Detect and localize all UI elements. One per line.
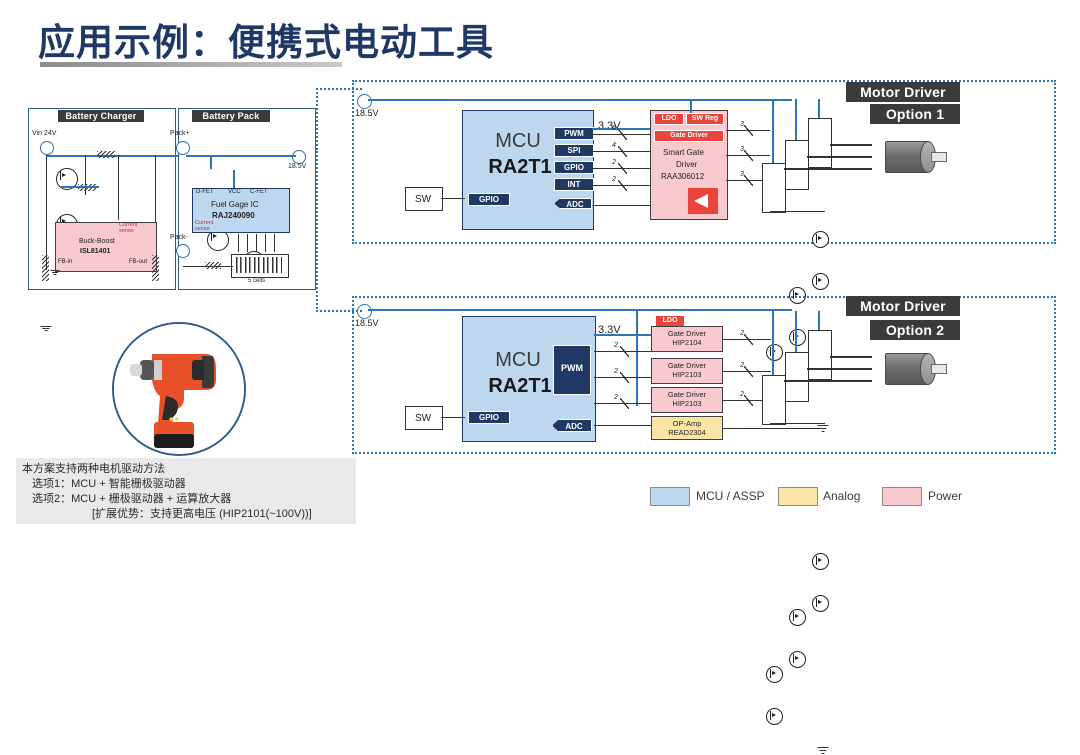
option2-gate-driver-1-name: Gate Driver <box>652 329 722 338</box>
page-title: 应用示例：便携式电动工具 <box>38 12 494 66</box>
fuel-gage-part: RAJ240090 <box>212 211 255 220</box>
option2-adc-wire <box>594 425 652 426</box>
pack-plus-terminal <box>176 141 190 155</box>
option2-mcu-label: MCU <box>478 350 558 370</box>
option1-bus-slash-2 <box>618 146 627 157</box>
sgd-opamp-triangle <box>694 194 708 208</box>
caption-line-4: [扩展优势：支持更高电压 (HIP2101(~100V))] <box>16 507 356 522</box>
option1-motor-wire-2 <box>807 156 872 158</box>
option1-bus-width-4: 2 <box>612 176 616 183</box>
cell-tap-arrows <box>238 234 282 252</box>
buck-boost-name: Buck-Boost <box>79 238 115 245</box>
option1-gnd-rail <box>770 211 825 212</box>
option2-out-slash-3 <box>744 395 753 406</box>
option2-gate-driver-3-name: Gate Driver <box>652 390 722 399</box>
option1-gpio-input-tag[interactable]: GPIO <box>468 193 510 206</box>
option2-opamp-block: OP-Amp READ2304 <box>651 416 723 440</box>
option1-signal-adc <box>592 205 650 206</box>
option1-bus-slash-4 <box>618 180 627 191</box>
option1-hv-bus-b <box>795 99 797 141</box>
option1-periph-adc[interactable]: ADC <box>554 198 592 209</box>
charger-vert-wire-3 <box>118 155 119 220</box>
option1-phase-width-2: 3 <box>740 146 744 153</box>
cell-bars <box>236 257 282 273</box>
option1-fetpair-b <box>785 140 809 190</box>
option2-option-header: Option 2 <box>870 320 960 340</box>
option2-opamp-feedback-wire <box>723 428 823 429</box>
vin-label: Vin 24V <box>32 130 56 137</box>
cells-label: 5 cells <box>248 278 265 284</box>
caption-line-2: 选项1：MCU + 智能栅极驱动器 <box>16 477 356 492</box>
caption-line-3: 选项2：MCU + 栅极驱动器 + 运算放大器 <box>16 492 356 507</box>
option1-fet-c-high <box>812 231 829 248</box>
option2-motor-wire-1 <box>830 356 872 358</box>
option1-periph-gpio[interactable]: GPIO <box>554 161 594 174</box>
option2-sw-wire <box>441 417 465 418</box>
charger-ground-left <box>40 326 52 332</box>
pack-to-option2-connector <box>316 148 362 312</box>
option2-fetpair-b <box>785 352 809 402</box>
pack-rail-down <box>210 155 212 169</box>
option1-periph-int[interactable]: INT <box>554 178 594 191</box>
option1-sw-label: SW <box>415 194 431 205</box>
option1-hv-bus-a <box>772 99 774 165</box>
option1-motor-driver-header: Motor Driver <box>846 82 960 102</box>
option2-bus-slash-1 <box>620 346 629 357</box>
buck-boost-part: ISL81401 <box>80 248 110 255</box>
option2-motor-wire-2 <box>807 368 872 370</box>
option2-bus-slash-3 <box>620 398 629 409</box>
option1-phase-slash-3 <box>744 175 753 186</box>
option1-motor-wire-1 <box>830 144 872 146</box>
charger-rail-wire <box>46 155 196 157</box>
option1-bus-slash-3 <box>618 163 627 174</box>
option2-motor-driver-header: Motor Driver <box>846 296 960 316</box>
option1-bus-width-3: 2 <box>612 159 616 166</box>
option2-out-width-3: 2 <box>740 391 744 398</box>
pack-plus-label: Pack+ <box>170 130 190 137</box>
option2-fetpair-a <box>762 375 786 425</box>
option2-gate-driver-2: Gate Driver HIP2103 <box>651 358 723 384</box>
battery-charger-header: Battery Charger <box>58 110 144 122</box>
charger-series-resistor <box>97 151 115 158</box>
option2-ground <box>817 747 829 755</box>
legend-chip-analog <box>778 487 818 506</box>
power-drill-photo <box>112 322 246 456</box>
option2-bus-width-2: 2 <box>614 368 618 375</box>
option2-out-slash-1 <box>744 334 753 345</box>
option2-sw-label: SW <box>415 413 431 424</box>
option2-gnd-rail <box>770 423 825 424</box>
vin-terminal <box>40 141 54 155</box>
option2-gate-driver-2-name: Gate Driver <box>652 361 722 370</box>
option2-3v3-down <box>636 311 638 406</box>
option2-fet-c-low <box>812 595 829 612</box>
option1-bus-slash-1 <box>618 129 627 140</box>
buck-boost-fb-in: FB-in <box>58 259 72 265</box>
pack-18v-label: 18.5V <box>288 163 306 170</box>
pack-minus-terminal <box>176 244 190 258</box>
legend-label-mcu: MCU / ASSP <box>696 489 765 503</box>
legend-label-analog: Analog <box>823 489 860 503</box>
option2-gate-driver-3-part: HIP2103 <box>652 399 722 408</box>
option2-out-slash-2 <box>744 366 753 377</box>
option2-3v3-rail <box>594 334 654 336</box>
charger-switch-node <box>61 186 99 188</box>
drill-illustration <box>114 324 244 454</box>
option1-main-rail <box>368 99 792 101</box>
option2-out-width-2: 2 <box>740 362 744 369</box>
buck-boost-current-sense: Currentsense <box>119 222 137 234</box>
sgd-name-line2: Driver <box>676 160 697 169</box>
sgd-part: RAA306012 <box>661 172 704 181</box>
option2-gpio-input-tag[interactable]: GPIO <box>468 411 510 424</box>
legend-chip-power <box>882 487 922 506</box>
option1-bus-width-2: 4 <box>612 142 616 149</box>
charger-ground-fet <box>50 270 60 275</box>
pack-minus-label: Pack- <box>170 234 188 241</box>
pack-rail-wire <box>186 155 296 157</box>
option1-fetpair-a <box>762 163 786 213</box>
option1-rail-to-driver <box>690 99 692 113</box>
option2-opamp-part: READ2304 <box>652 428 722 437</box>
option2-hv-bus-b <box>795 311 797 353</box>
option2-hv-bus-c <box>818 311 820 331</box>
legend-chip-mcu <box>650 487 690 506</box>
caption-box: 本方案支持两种电机驱动方法 选项1：MCU + 智能栅极驱动器 选项2：MCU … <box>16 458 356 524</box>
option1-phase-width-1: 3 <box>740 121 744 128</box>
option2-fet-a-high <box>766 666 783 683</box>
option2-gate-driver-1: Gate Driver HIP2104 <box>651 326 723 352</box>
fuel-gage-dfet-pin: D-FET <box>196 189 214 195</box>
option1-fet-c-low <box>812 273 829 290</box>
pack-fet-mid <box>233 170 235 190</box>
option1-periph-spi[interactable]: SPI <box>554 144 594 157</box>
fuel-gage-vcc-pin: VCC <box>228 189 241 195</box>
sgd-name-line1: Smart Gate <box>663 148 704 157</box>
option1-bus-width-1: 6 <box>612 125 616 132</box>
option2-gate-driver-3: Gate Driver HIP2103 <box>651 387 723 413</box>
option2-fet-c-high <box>812 553 829 570</box>
option2-out-width-1: 2 <box>740 330 744 337</box>
fuel-gage-cfet-pin: C-FET <box>250 189 268 195</box>
option1-hv-bus-c <box>818 99 820 119</box>
fuel-gage-current-sense: Currentsense <box>195 220 213 232</box>
option2-pwm-label: PWM <box>556 363 588 373</box>
title-underline <box>40 62 342 67</box>
fuel-gage-name: Fuel Gage IC <box>211 200 259 209</box>
option2-bus-width-3: 2 <box>614 394 618 401</box>
option1-motor-wire-3 <box>784 168 872 170</box>
option1-option-header: Option 1 <box>870 104 960 124</box>
option2-opamp-name: OP-Amp <box>652 419 722 428</box>
option2-adc-tag[interactable]: ADC <box>552 419 592 432</box>
option2-motor-shaft <box>931 364 947 374</box>
option1-phase-width-3: 3 <box>740 171 744 178</box>
option2-hv-bus-a <box>772 311 774 377</box>
sgd-swreg-tag: SW Reg <box>686 113 724 125</box>
option1-fetpair-c <box>808 118 832 168</box>
option1-phase-slash-1 <box>744 125 753 136</box>
option1-periph-pwm[interactable]: PWM <box>554 127 594 140</box>
option2-fetpair-c <box>808 330 832 380</box>
charger-fb-in-divider <box>42 255 49 281</box>
buck-boost-fb-out: FB-out <box>129 259 147 265</box>
battery-pack-header: Battery Pack <box>192 110 270 122</box>
option2-fet-b-high <box>789 609 806 626</box>
option2-motor-wire-3 <box>784 380 872 382</box>
option2-gate-driver-1-part: HIP2104 <box>652 338 722 347</box>
option2-18v-label: 18.5V <box>355 318 379 328</box>
charger-fb-out-divider <box>152 255 159 281</box>
option1-motor-shaft <box>931 152 947 162</box>
legend-label-power: Power <box>928 489 962 503</box>
pack-to-option1-connector <box>316 88 362 150</box>
option1-mcu-label: MCU <box>478 131 558 151</box>
option2-main-rail <box>368 309 792 311</box>
option2-fet-b-low <box>789 651 806 668</box>
option1-phase-slash-2 <box>744 150 753 161</box>
sgd-ldo-tag: LDO <box>654 113 684 125</box>
option2-bus-slash-2 <box>620 372 629 383</box>
caption-line-1: 本方案支持两种电机驱动方法 <box>16 458 356 477</box>
charger-vert-wire-1 <box>46 155 47 270</box>
option2-gate-driver-2-part: HIP2103 <box>652 370 722 379</box>
option1-sw-wire <box>441 198 465 199</box>
option2-fet-a-low <box>766 708 783 725</box>
option2-bus-width-1: 2 <box>614 342 618 349</box>
pack-sense-resistor <box>205 262 221 269</box>
sgd-gatedriver-tag: Gate Driver <box>654 130 724 142</box>
pack-18v-terminal <box>292 150 306 164</box>
